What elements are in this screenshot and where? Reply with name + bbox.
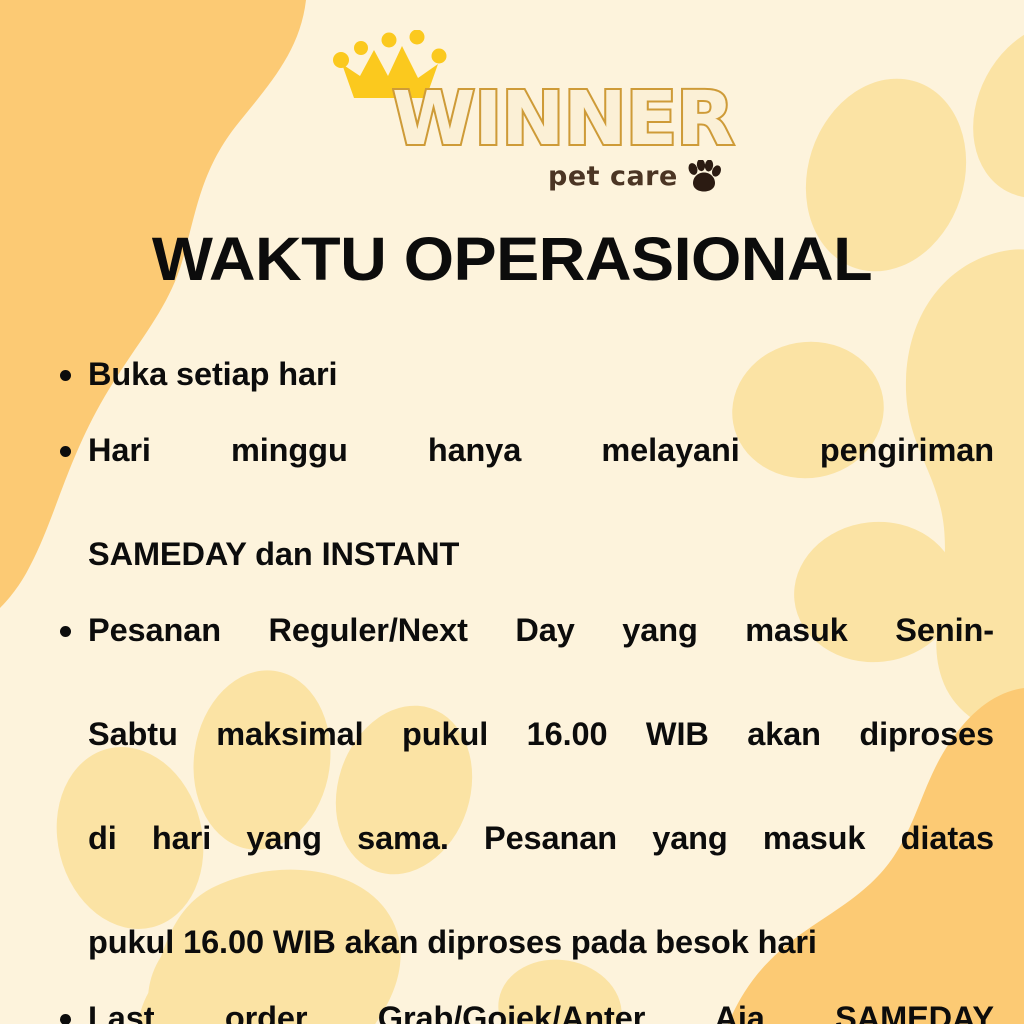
list-item-line: Last order Grab/Gojek/Anter Aja SAMEDAY <box>88 992 994 1024</box>
list-item: Hari minggu hanya melayani pengiriman SA… <box>46 424 994 580</box>
list-item: Last order Grab/Gojek/Anter Aja SAMEDAY … <box>46 992 994 1024</box>
list-item-line: Pesanan Reguler/Next Day yang masuk Seni… <box>88 604 994 708</box>
list-item-line: Hari minggu hanya melayani pengiriman <box>88 424 994 528</box>
list-item-line: Buka setiap hari <box>88 356 337 392</box>
paw-print-icon <box>687 160 721 192</box>
brand-logo: WINNER pet care <box>0 12 1024 202</box>
operating-hours-list: Buka setiap hari Hari minggu hanya melay… <box>46 348 994 1024</box>
list-item-line: pukul 16.00 WIB akan diproses pada besok… <box>88 924 817 960</box>
list-item-line: Sabtu maksimal pukul 16.00 WIB akan dipr… <box>88 708 994 812</box>
brand-name: WINNER <box>392 80 718 158</box>
brand-tagline: pet care <box>548 163 678 190</box>
list-item: Pesanan Reguler/Next Day yang masuk Seni… <box>46 604 994 968</box>
page-title: WAKTU OPERASIONAL <box>0 224 1024 294</box>
tagline-row: pet care <box>548 160 721 192</box>
poster-canvas: WINNER pet care WAKTU OPERASIONAL Buka s… <box>0 0 1024 1024</box>
list-item: Buka setiap hari <box>46 348 994 400</box>
list-item-line: di hari yang sama. Pesanan yang masuk di… <box>88 812 994 916</box>
wordmark: WINNER <box>392 80 712 158</box>
list-item-line: SAMEDAY dan INSTANT <box>88 536 459 572</box>
